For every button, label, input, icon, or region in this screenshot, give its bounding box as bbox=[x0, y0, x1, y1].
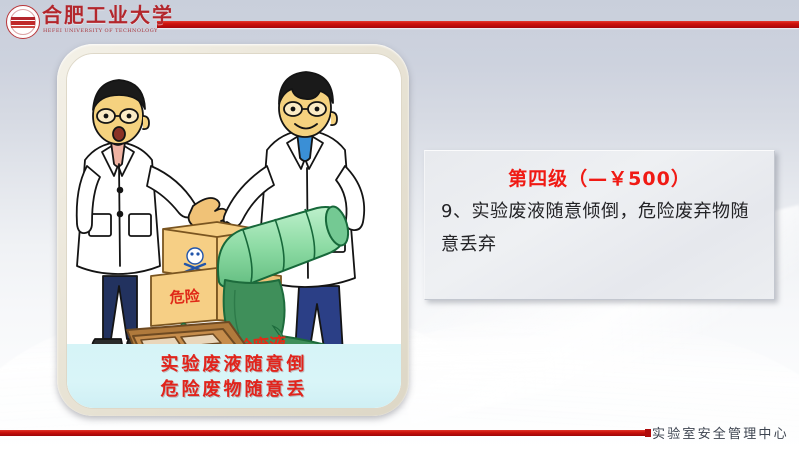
university-emblem-icon bbox=[6, 5, 40, 39]
footer-accent-line bbox=[0, 430, 649, 436]
content-textbox: 第四级（—￥500） 9、实验废液随意倾倒，危险废弃物随意丢弃 bbox=[424, 150, 775, 300]
violation-item-text: 9、实验废液随意倾倒，危险废弃物随意丢弃 bbox=[441, 195, 758, 261]
university-name-en: HEFEI UNIVERSITY OF TECHNOLOGY bbox=[43, 28, 158, 34]
caption-line-1: 实验废液随意倒 bbox=[67, 352, 401, 377]
illustration-inner: 危险 废弃物 bbox=[66, 53, 402, 409]
caption-block: 实验废液随意倒 危险废物随意丢 bbox=[67, 352, 401, 402]
header-accent-bar bbox=[157, 21, 799, 28]
svg-text:危险: 危险 bbox=[169, 287, 201, 307]
footer-line-cap bbox=[645, 429, 651, 437]
slide-canvas: 合肥工业大学 HEFEI UNIVERSITY OF TECHNOLOGY bbox=[0, 0, 799, 450]
university-logo: 合肥工业大学 HEFEI UNIVERSITY OF TECHNOLOGY bbox=[6, 4, 174, 40]
footer-sheen bbox=[0, 437, 700, 439]
footer-org-name: 实验室安全管理中心 bbox=[652, 423, 789, 442]
caption-line-2: 危险废物随意丢 bbox=[67, 377, 401, 402]
level-title: 第四级（—￥500） bbox=[441, 165, 758, 193]
illustration-frame: 危险 废弃物 bbox=[57, 44, 409, 416]
university-name-cn: 合肥工业大学 bbox=[42, 3, 174, 27]
